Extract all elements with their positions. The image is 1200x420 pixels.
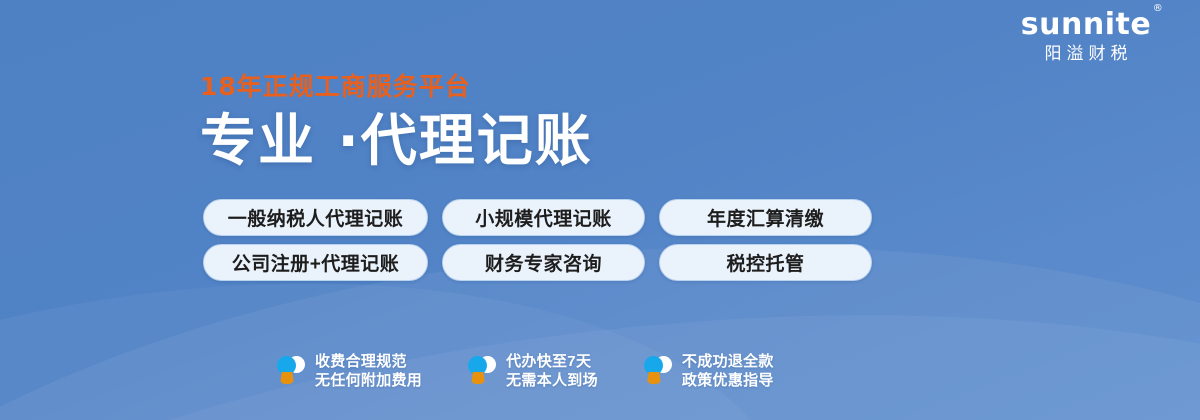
medal-icon bbox=[643, 354, 673, 388]
service-pill[interactable]: 财务专家咨询 bbox=[442, 244, 645, 281]
feature-line-2: 无需本人到场 bbox=[506, 371, 598, 390]
service-pill[interactable]: 公司注册+代理记账 bbox=[203, 244, 428, 281]
logo-chinese-name: 阳溢财税 bbox=[996, 43, 1176, 65]
service-pill[interactable]: 小规模代理记账 bbox=[442, 199, 645, 236]
service-pill-grid: 一般纳税人代理记账 小规模代理记账 年度汇算清缴 公司注册+代理记账 财务专家咨… bbox=[203, 199, 872, 281]
feature-text: 代办快至7天 无需本人到场 bbox=[506, 352, 598, 390]
feature-item: 收费合理规范 无任何附加费用 bbox=[276, 352, 422, 390]
feature-text: 不成功退全款 政策优惠指导 bbox=[682, 352, 774, 390]
feature-text: 收费合理规范 无任何附加费用 bbox=[315, 352, 422, 390]
logo-wordmark-text: sunnite bbox=[1021, 7, 1151, 42]
brand-logo[interactable]: sunnite ® 阳溢财税 bbox=[996, 8, 1176, 65]
feature-line-1: 收费合理规范 bbox=[315, 352, 422, 371]
feature-item: 代办快至7天 无需本人到场 bbox=[467, 352, 598, 390]
medal-icon bbox=[467, 354, 497, 388]
service-pill[interactable]: 税控托管 bbox=[659, 244, 872, 281]
service-pill[interactable]: 年度汇算清缴 bbox=[659, 199, 872, 236]
feature-line-1: 代办快至7天 bbox=[506, 352, 598, 371]
feature-line-2: 政策优惠指导 bbox=[682, 371, 774, 390]
logo-wordmark: sunnite ® bbox=[1021, 8, 1151, 42]
feature-strip: 收费合理规范 无任何附加费用 代办快至7天 无需本人到场 不成功退全款 bbox=[276, 352, 774, 390]
eyebrow-text: 18年正规工商服务平台 bbox=[200, 72, 593, 102]
feature-line-2: 无任何附加费用 bbox=[315, 371, 422, 390]
service-pill-row: 一般纳税人代理记账 小规模代理记账 年度汇算清缴 bbox=[203, 199, 872, 236]
service-pill-row: 公司注册+代理记账 财务专家咨询 税控托管 bbox=[203, 244, 872, 281]
service-pill[interactable]: 一般纳税人代理记账 bbox=[203, 199, 428, 236]
medal-icon bbox=[276, 354, 306, 388]
registered-trademark-icon: ® bbox=[1153, 4, 1164, 14]
headline-block: 18年正规工商服务平台 专业 ·代理记账 bbox=[200, 72, 593, 174]
promo-banner: sunnite ® 阳溢财税 18年正规工商服务平台 专业 ·代理记账 一般纳税… bbox=[0, 0, 1200, 420]
feature-item: 不成功退全款 政策优惠指导 bbox=[643, 352, 774, 390]
page-title: 专业 ·代理记账 bbox=[200, 110, 593, 174]
feature-line-1: 不成功退全款 bbox=[682, 352, 774, 371]
